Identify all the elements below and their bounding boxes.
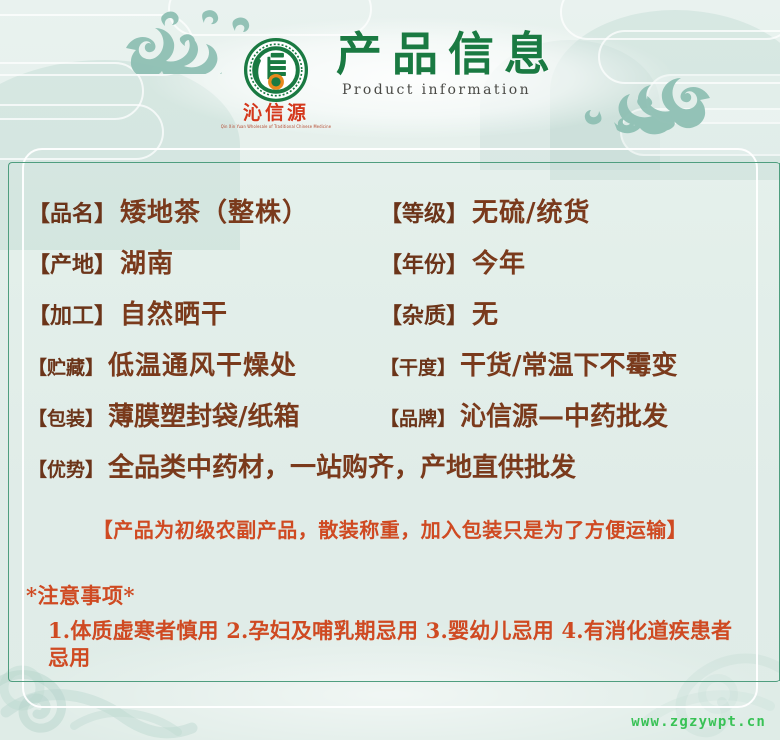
caution-title: *注意事项* [26, 580, 750, 610]
spec-value: 薄膜塑封袋/纸箱 [108, 396, 300, 433]
spec-label: 【产地】 [28, 247, 116, 279]
product-spec-list: 【品名】 矮地茶（整株） 【等级】 无硫/统货 【产地】 湖南 【年份】 今年 [28, 192, 754, 498]
brand-logo: 沁信源 Qin Xin Yuan Wholesale of Traditiona… [228, 28, 324, 129]
spec-value: 自然晒干 [120, 294, 228, 331]
spec-label: 【年份】 [380, 247, 468, 279]
circular-seal-logo-icon [243, 37, 309, 103]
spec-item-dryness: 【干度】 干货/常温下不霉变 [380, 345, 754, 382]
spec-label: 【加工】 [28, 298, 116, 330]
brand-name-cn: 沁信源 [243, 104, 309, 124]
spec-row: 【品名】 矮地茶（整株） 【等级】 无硫/统货 [28, 192, 754, 243]
spec-item-year: 【年份】 今年 [380, 243, 754, 280]
spec-item-advantage: 【优势】 全品类中药材，一站购齐，产地直供批发 [28, 447, 754, 484]
spec-label: 【等级】 [380, 196, 468, 228]
spec-item-storage: 【贮藏】 低温通风干燥处 [28, 345, 380, 382]
spec-row: 【包装】 薄膜塑封袋/纸箱 【品牌】 沁信源—中药批发 [28, 396, 754, 447]
brand-name-en: Qin Xin Yuan Wholesale of Traditional Ch… [221, 125, 331, 130]
page-subtitle: Product information [342, 82, 560, 98]
spec-item-origin: 【产地】 湖南 [28, 243, 380, 280]
spec-value: 低温通风干燥处 [108, 345, 297, 382]
product-specs-content: 【品名】 矮地茶（整株） 【等级】 无硫/统货 【产地】 湖南 【年份】 今年 [0, 162, 780, 682]
spec-label: 【贮藏】 [28, 353, 104, 380]
spec-item-grade: 【等级】 无硫/统货 [380, 192, 754, 229]
spec-value: 无硫/统货 [472, 192, 591, 229]
caution-section: *注意事项* 1.体质虚寒者慎用 2.孕妇及哺乳期忌用 3.婴幼儿忌用 4.有消… [26, 580, 750, 672]
spec-label: 【优势】 [28, 455, 104, 482]
spec-row: 【优势】 全品类中药材，一站购齐，产地直供批发 [28, 447, 754, 498]
spec-row: 【加工】 自然晒干 【杂质】 无 [28, 294, 754, 345]
spec-value: 全品类中药材，一站购齐，产地直供批发 [108, 447, 576, 484]
product-information-page: 沁信源 Qin Xin Yuan Wholesale of Traditiona… [0, 0, 780, 740]
spec-value: 湖南 [120, 243, 174, 280]
spec-value: 今年 [472, 243, 526, 280]
spec-item-name: 【品名】 矮地茶（整株） [28, 192, 380, 229]
spec-item-impurity: 【杂质】 无 [380, 294, 754, 331]
spec-label: 【干度】 [380, 353, 456, 380]
page-title: 产品信息 [336, 30, 560, 80]
spec-item-processing: 【加工】 自然晒干 [28, 294, 380, 331]
spec-label: 【包装】 [28, 404, 104, 431]
spec-item-brand: 【品牌】 沁信源—中药批发 [380, 396, 754, 433]
spec-value: 沁信源—中药批发 [460, 396, 668, 433]
spec-label: 【杂质】 [380, 298, 468, 330]
spec-value: 无 [472, 294, 499, 331]
footer-website-url: www.zgzywpt.cn [631, 714, 766, 730]
spec-row: 【贮藏】 低温通风干燥处 【干度】 干货/常温下不霉变 [28, 345, 754, 396]
packaging-note: 【产品为初级农副产品，散装称重，加入包装只是为了方便运输】 [0, 514, 780, 543]
spec-label: 【品牌】 [380, 404, 456, 431]
header-titles: 产品信息 Product information [336, 28, 560, 98]
spec-value: 干货/常温下不霉变 [460, 345, 678, 382]
spec-label: 【品名】 [28, 196, 116, 228]
page-header: 沁信源 Qin Xin Yuan Wholesale of Traditiona… [0, 0, 780, 148]
spec-row: 【产地】 湖南 【年份】 今年 [28, 243, 754, 294]
spec-item-packaging: 【包装】 薄膜塑封袋/纸箱 [28, 396, 380, 433]
spec-value: 矮地茶（整株） [120, 192, 309, 229]
caution-items: 1.体质虚寒者慎用 2.孕妇及哺乳期忌用 3.婴幼儿忌用 4.有消化道疾患者忌用 [48, 618, 750, 672]
